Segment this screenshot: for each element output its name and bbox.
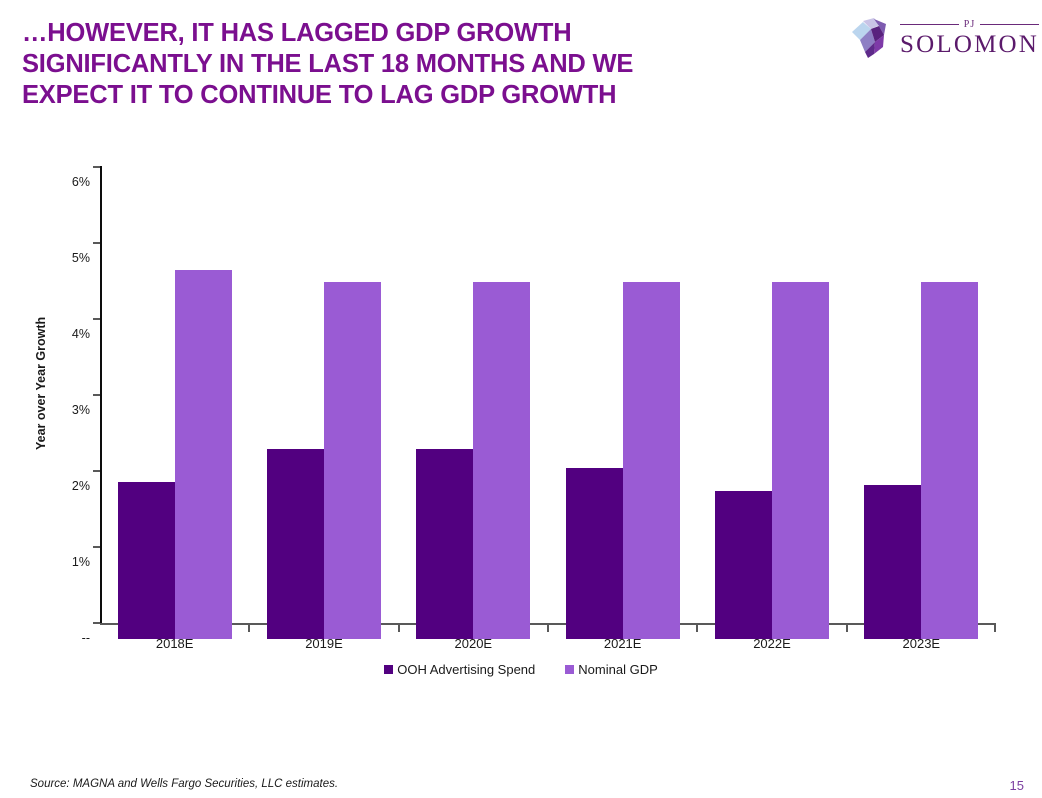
legend-label: OOH Advertising Spend xyxy=(397,662,535,677)
slide-footer: Source: MAGNA and Wells Fargo Securities… xyxy=(0,778,1042,798)
x-axis-label-2019e: 2019E xyxy=(249,636,398,651)
y-axis-tick-label: -- xyxy=(44,632,90,644)
bar-2018e-ooh-advertising-spend xyxy=(118,482,175,639)
x-axis-label-2021e: 2021E xyxy=(548,636,697,651)
y-axis-tick-labels: --1%2%3%4%5%6% xyxy=(38,166,90,640)
x-axis-tick xyxy=(846,624,848,632)
logo-solomon-text: SOLOMON xyxy=(900,31,1039,58)
y-axis-line xyxy=(100,166,102,624)
page-number: 15 xyxy=(1010,778,1024,793)
y-axis-tick xyxy=(93,394,100,396)
bar-2019e-nominal-gdp xyxy=(324,282,381,639)
brand-logo: PJ SOLOMON xyxy=(850,14,1028,62)
plot-area: 2018E2019E2020E2021E2022E2023E xyxy=(100,166,996,640)
bar-2020e-nominal-gdp xyxy=(473,282,530,639)
slide-header: …HOWEVER, IT HAS LAGGED GDP GROWTH SIGNI… xyxy=(0,0,1042,130)
page-title-line-3: EXPECT IT TO CONTINUE TO LAG GDP GROWTH xyxy=(22,80,802,111)
page-title-line-2: SIGNIFICANTLY IN THE LAST 18 MONTHS AND … xyxy=(22,49,802,80)
y-axis-tick xyxy=(93,622,100,624)
bar-2019e-ooh-advertising-spend xyxy=(267,449,324,639)
logo-rule-right xyxy=(980,24,1039,25)
page-title-line-1: …HOWEVER, IT HAS LAGGED GDP GROWTH xyxy=(22,18,802,49)
y-axis-tick xyxy=(93,166,100,168)
x-axis-tick xyxy=(547,624,549,632)
y-axis-tick-label: 2% xyxy=(44,480,90,492)
x-axis-tick xyxy=(248,624,250,632)
chart-legend: OOH Advertising SpendNominal GDP xyxy=(0,662,1042,677)
bar-chart: Year over Year Growth --1%2%3%4%5%6% 201… xyxy=(0,150,1042,690)
bar-2023e-ooh-advertising-spend xyxy=(864,485,921,639)
source-note: Source: MAGNA and Wells Fargo Securities… xyxy=(30,778,338,790)
legend-label: Nominal GDP xyxy=(578,662,657,677)
page-title: …HOWEVER, IT HAS LAGGED GDP GROWTH SIGNI… xyxy=(22,18,802,111)
legend-item-nominal-gdp[interactable]: Nominal GDP xyxy=(565,662,657,677)
bar-2020e-ooh-advertising-spend xyxy=(416,449,473,639)
y-axis-tick-label: 5% xyxy=(44,252,90,264)
x-axis-tick xyxy=(398,624,400,632)
logo-wordmark: PJ SOLOMON xyxy=(900,18,1039,58)
bar-2022e-nominal-gdp xyxy=(772,282,829,639)
pj-solomon-diamond-icon xyxy=(850,16,896,60)
y-axis-tick xyxy=(93,242,100,244)
logo-pj-row: PJ xyxy=(900,18,1039,31)
y-axis-tick xyxy=(93,546,100,548)
bar-2021e-ooh-advertising-spend xyxy=(566,468,623,639)
x-axis-label-2023e: 2023E xyxy=(847,636,996,651)
x-axis-label-2020e: 2020E xyxy=(399,636,548,651)
bar-2021e-nominal-gdp xyxy=(623,282,680,639)
bar-2018e-nominal-gdp xyxy=(175,270,232,639)
x-axis-label-2018e: 2018E xyxy=(100,636,249,651)
y-axis-tick-label: 1% xyxy=(44,556,90,568)
x-axis-tick-end xyxy=(994,624,996,632)
bar-2023e-nominal-gdp xyxy=(921,282,978,639)
x-axis-tick xyxy=(696,624,698,632)
y-axis-tick-label: 6% xyxy=(44,176,90,188)
y-axis-tick xyxy=(93,318,100,320)
legend-swatch-icon xyxy=(565,665,574,674)
legend-swatch-icon xyxy=(384,665,393,674)
x-axis-label-2022e: 2022E xyxy=(697,636,846,651)
legend-item-ooh-advertising-spend[interactable]: OOH Advertising Spend xyxy=(384,662,535,677)
logo-rule-left xyxy=(900,24,959,25)
y-axis-tick-label: 4% xyxy=(44,328,90,340)
y-axis-tick xyxy=(93,470,100,472)
logo-pj-text: PJ xyxy=(959,19,980,30)
bar-2022e-ooh-advertising-spend xyxy=(715,491,772,639)
y-axis-tick-label: 3% xyxy=(44,404,90,416)
